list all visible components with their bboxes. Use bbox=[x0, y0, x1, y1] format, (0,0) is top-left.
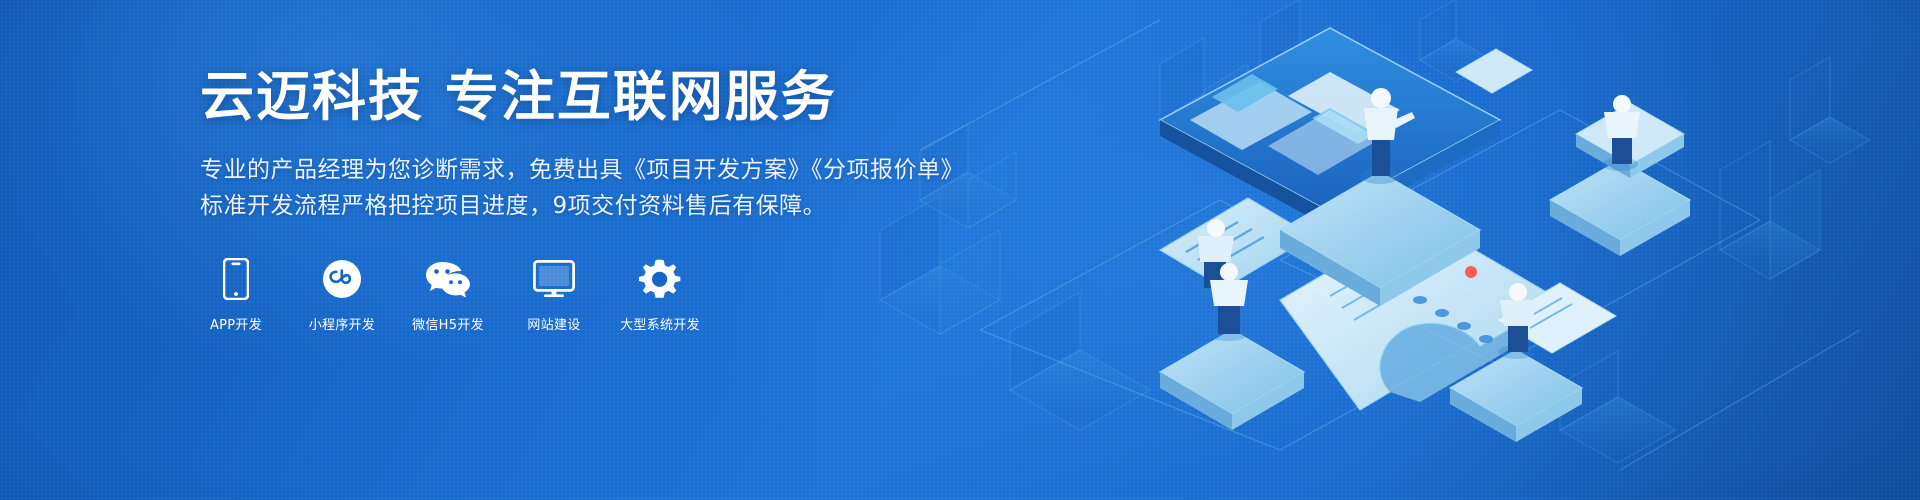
mobile-phone-icon bbox=[223, 258, 249, 300]
service-item-system[interactable]: 大型系统开发 bbox=[624, 258, 696, 333]
service-label: 小程序开发 bbox=[309, 314, 376, 333]
service-label: 微信H5开发 bbox=[412, 314, 484, 333]
subtitle-line-1: 专业的产品经理为您诊断需求，免费出具《项目开发方案》《分项报价单》 bbox=[200, 152, 964, 188]
service-item-miniprogram[interactable]: 小程序开发 bbox=[306, 258, 378, 333]
service-item-app[interactable]: APP开发 bbox=[200, 258, 272, 333]
service-item-website[interactable]: 网站建设 bbox=[518, 258, 590, 333]
service-label: 网站建设 bbox=[527, 314, 580, 333]
service-item-wechat[interactable]: 微信H5开发 bbox=[412, 258, 484, 333]
service-label: APP开发 bbox=[210, 314, 262, 333]
service-list: APP开发 小程序开发 bbox=[200, 258, 964, 333]
mini-program-icon bbox=[322, 258, 362, 300]
monitor-icon bbox=[533, 258, 575, 300]
wechat-icon bbox=[425, 258, 471, 300]
isometric-illustration bbox=[860, 0, 1920, 500]
service-label: 大型系统开发 bbox=[620, 314, 700, 333]
page-title: 云迈科技 专注互联网服务 bbox=[200, 66, 964, 128]
hero-banner: 云迈科技 专注互联网服务 专业的产品经理为您诊断需求，免费出具《项目开发方案》《… bbox=[0, 0, 1920, 500]
gear-icon bbox=[639, 258, 681, 300]
subtitle-line-2: 标准开发流程严格把控项目进度，9项交付资料售后有保障。 bbox=[200, 188, 964, 224]
hero-copy: 云迈科技 专注互联网服务 专业的产品经理为您诊断需求，免费出具《项目开发方案》《… bbox=[200, 66, 964, 333]
